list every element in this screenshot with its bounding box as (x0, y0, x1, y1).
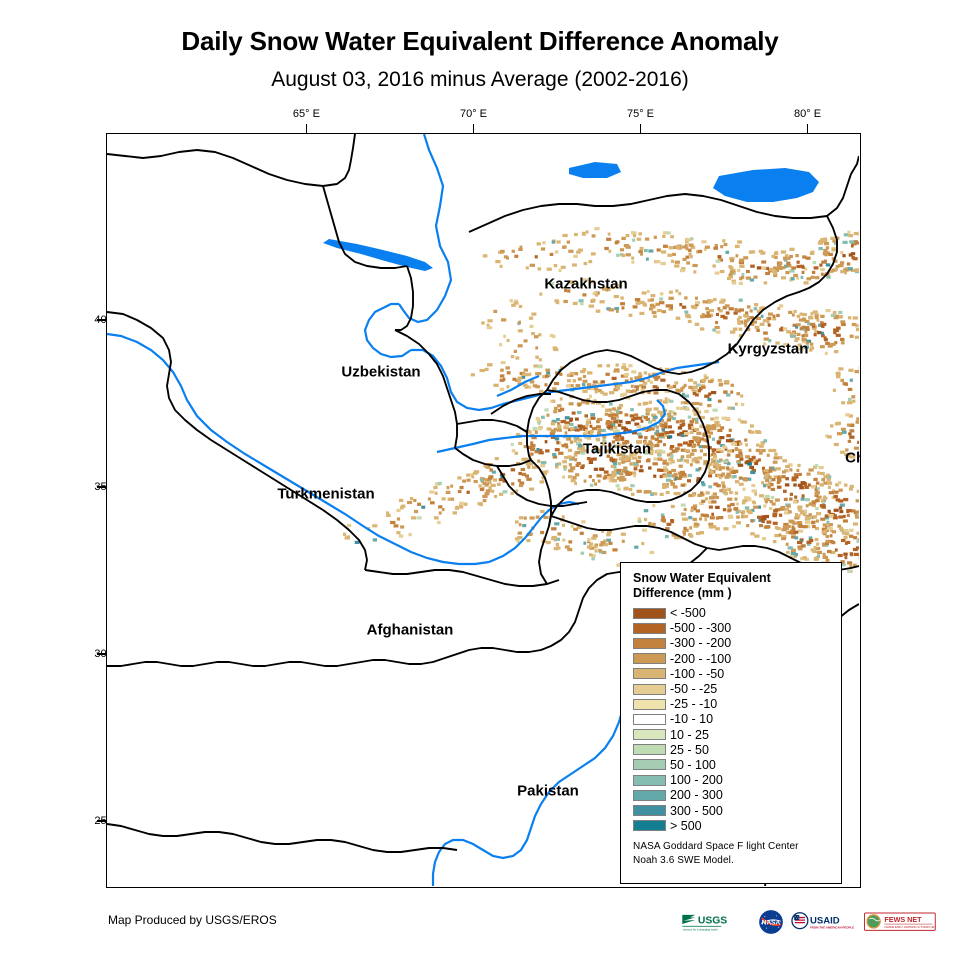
legend-row[interactable]: 200 - 300 (633, 788, 831, 803)
legend-swatch (633, 775, 666, 786)
legend-row[interactable]: -300 - -200 (633, 636, 831, 651)
lon-tick-75 (640, 124, 642, 133)
svg-text:USAID: USAID (810, 915, 840, 926)
legend-label: < -500 (670, 606, 706, 620)
nasa-logo[interactable]: NASA (758, 909, 784, 935)
legend-label: -500 - -300 (670, 621, 731, 635)
svg-text:NASA: NASA (762, 919, 781, 926)
svg-text:FEWS NET: FEWS NET (884, 915, 922, 924)
legend-swatch (633, 608, 666, 619)
legend-swatch (633, 744, 666, 755)
legend-label: 300 - 500 (670, 804, 723, 818)
svg-text:USGS: USGS (698, 915, 727, 926)
legend-row[interactable]: < -500 (633, 606, 831, 621)
lon-label-70: 70° E (460, 108, 487, 120)
lon-label-80: 80° E (794, 108, 821, 120)
legend-swatch (633, 653, 666, 664)
legend-swatch (633, 805, 666, 816)
map-credit: Map Produced by USGS/EROS (108, 913, 277, 927)
legend-row[interactable]: 100 - 200 (633, 773, 831, 788)
legend-label: -200 - -100 (670, 652, 731, 666)
legend-swatch (633, 684, 666, 695)
usgs-logo[interactable]: USGS science for a changing world (681, 909, 751, 935)
legend-swatch (633, 759, 666, 770)
legend-label: 10 - 25 (670, 728, 709, 742)
legend-row[interactable]: -25 - -10 (633, 697, 831, 712)
lon-label-65: 65° E (293, 108, 320, 120)
lon-tick-80 (807, 124, 809, 133)
legend-row[interactable]: -500 - -300 (633, 621, 831, 636)
legend-row[interactable]: 10 - 25 (633, 727, 831, 742)
legend-row[interactable]: 300 - 500 (633, 803, 831, 818)
usaid-logo[interactable]: USAID FROM THE AMERICAN PEOPLE (791, 909, 857, 935)
legend-swatch (633, 714, 666, 725)
legend-label: -100 - -50 (670, 667, 724, 681)
svg-text:FAMINE EARLY WARNING SYSTEMS N: FAMINE EARLY WARNING SYSTEMS NETWORK (884, 925, 936, 929)
lakes-layer (323, 162, 819, 271)
agency-logo-bar: USGS science for a changing world NASA U… (681, 908, 936, 936)
legend-label: -300 - -200 (670, 636, 731, 650)
map-legend[interactable]: Snow Water Equivalent Difference (mm ) <… (620, 562, 842, 884)
fewsnet-logo[interactable]: FEWS NET FAMINE EARLY WARNING SYSTEMS NE… (864, 909, 936, 935)
legend-label: 50 - 100 (670, 758, 716, 772)
legend-label: > 500 (670, 819, 702, 833)
legend-swatch (633, 623, 666, 634)
legend-label: 25 - 50 (670, 743, 709, 757)
legend-label: 200 - 300 (670, 788, 723, 802)
legend-row[interactable]: 25 - 50 (633, 742, 831, 757)
legend-title: Snow Water Equivalent Difference (mm ) (633, 571, 831, 601)
page-subtitle: August 03, 2016 minus Average (2002-2016… (0, 68, 960, 92)
legend-label: 100 - 200 (670, 773, 723, 787)
lon-tick-65 (306, 124, 308, 133)
legend-row[interactable]: -200 - -100 (633, 651, 831, 666)
legend-class-list: < -500-500 - -300-300 - -200-200 - -100-… (633, 606, 831, 834)
legend-swatch (633, 820, 666, 831)
legend-swatch (633, 668, 666, 679)
legend-row[interactable]: -50 - -25 (633, 681, 831, 696)
legend-swatch (633, 729, 666, 740)
legend-label: -50 - -25 (670, 682, 717, 696)
legend-label: -25 - -10 (670, 697, 717, 711)
legend-row[interactable]: -100 - -50 (633, 666, 831, 681)
svg-text:science for a changing world: science for a changing world (683, 927, 718, 931)
legend-row[interactable]: > 500 (633, 818, 831, 833)
legend-swatch (633, 699, 666, 710)
page-title: Daily Snow Water Equivalent Difference A… (0, 26, 960, 57)
legend-row[interactable]: -10 - 10 (633, 712, 831, 727)
legend-swatch (633, 638, 666, 649)
lon-tick-70 (473, 124, 475, 133)
lon-label-75: 75° E (627, 108, 654, 120)
svg-text:FROM THE AMERICAN PEOPLE: FROM THE AMERICAN PEOPLE (810, 925, 854, 929)
legend-label: -10 - 10 (670, 712, 713, 726)
legend-swatch (633, 790, 666, 801)
legend-source-note: NASA Goddard Space F light Center Noah 3… (633, 840, 831, 867)
legend-row[interactable]: 50 - 100 (633, 757, 831, 772)
swe-anomaly-raster (343, 227, 859, 574)
